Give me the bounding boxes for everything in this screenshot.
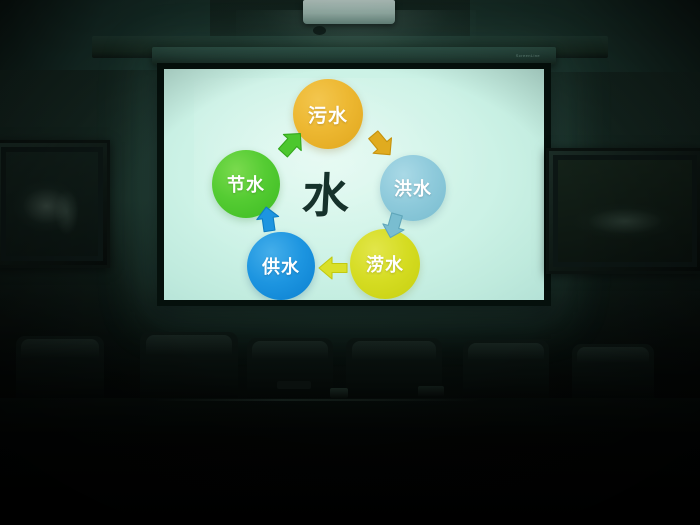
desk-object xyxy=(277,381,311,389)
conference-table xyxy=(0,398,700,525)
desk-object xyxy=(418,386,444,397)
left-painting-artwork xyxy=(6,152,98,256)
right-painting-artwork xyxy=(558,160,692,262)
node-water-saving-label: 节水 xyxy=(227,171,265,197)
conference-room: ScreenLine 水 污水 节水 洪水 供水 涝水 xyxy=(0,0,700,525)
screen-brand-label: ScreenLine xyxy=(516,53,540,58)
node-waterlogging[interactable]: 涝水 xyxy=(350,229,420,299)
node-flood-label: 洪水 xyxy=(394,175,432,201)
desk-object xyxy=(330,388,348,398)
ceiling-projector xyxy=(303,0,395,24)
node-water-supply-label: 供水 xyxy=(262,253,300,279)
table-edge-highlight xyxy=(150,399,480,401)
node-waterlogging-label: 涝水 xyxy=(366,251,404,277)
node-water-supply[interactable]: 供水 xyxy=(247,232,315,300)
left-painting xyxy=(0,140,110,268)
node-wastewater-label: 污水 xyxy=(308,101,348,128)
chair xyxy=(140,332,238,408)
slide-canvas: 水 污水 节水 洪水 供水 涝水 xyxy=(164,69,544,300)
center-character-water: 水 xyxy=(286,155,366,227)
projector-lens-icon xyxy=(313,26,326,35)
right-painting xyxy=(546,148,700,274)
projection-screen: 水 污水 节水 洪水 供水 涝水 xyxy=(157,63,551,306)
